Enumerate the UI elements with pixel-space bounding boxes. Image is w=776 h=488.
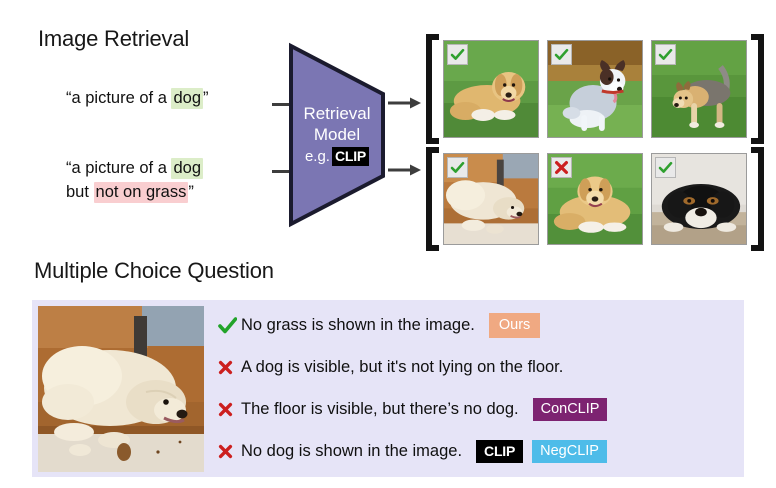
query-1-highlight-dog: dog [171, 88, 203, 109]
results-row-1 [425, 34, 765, 144]
verdict-badge [655, 44, 676, 65]
mcq-option-4-text: No dog is shown in the image. [241, 442, 462, 461]
query-caption-2: “a picture of a dog but not on grass” [66, 157, 203, 204]
query-2-line1-prefix: “a picture of a [66, 159, 171, 177]
verdict-badge [551, 44, 572, 65]
result-tile-golden-retriever-on-grass[interactable] [443, 40, 539, 138]
arrow-to-results-row-2 [388, 164, 422, 176]
query-caption-1: “a picture of a dog” [66, 87, 209, 110]
mcq-option-3-tags: ConCLIP [533, 398, 608, 421]
results-row-1-tiles [443, 40, 747, 138]
mcq-option-2-text: A dog is visible, but it's not lying on … [241, 358, 563, 377]
green-check-icon [218, 317, 237, 334]
result-tile-shepherd-mix-on-grass[interactable] [651, 40, 747, 138]
result-tile-golden-retriever-on-grass-2[interactable] [547, 153, 643, 245]
query-2-line2-suffix: ” [188, 183, 194, 201]
tag-negclip: NegCLIP [532, 440, 607, 463]
square-bracket-left-icon [425, 147, 441, 251]
mcq-option-1-text: No grass is shown in the image. [241, 316, 475, 335]
mcq-option-2[interactable]: A dog is visible, but it's not lying on … [218, 352, 738, 382]
result-tile-bernese-dog-on-indoor-floor[interactable] [651, 153, 747, 245]
mcq-option-4-tags: CLIP NegCLIP [476, 440, 607, 463]
result-tile-jack-russell-on-grass[interactable] [547, 40, 643, 138]
verdict-badge [447, 157, 468, 178]
results-row-2 [425, 147, 765, 251]
query-2-highlight-dog: dog [171, 158, 203, 179]
arrow-to-results-row-1 [388, 97, 422, 109]
retrieval-model-block: Retrieval Model e.g.CLIP [287, 42, 387, 228]
section-title-multiple-choice-question: Multiple Choice Question [34, 258, 274, 284]
red-cross-icon [218, 360, 237, 375]
section-title-image-retrieval: Image Retrieval [38, 26, 189, 52]
query-2-highlight-not-on-grass: not on grass [94, 182, 189, 203]
mcq-option-4[interactable]: No dog is shown in the image. CLIP NegCL… [218, 437, 738, 467]
query-1-prefix: “a picture of a [66, 89, 171, 107]
mcq-photo-cream-golden-retriever-lying-on-wooden-floor [38, 306, 204, 472]
mcq-option-3-text: The floor is visible, but there’s no dog… [241, 400, 519, 419]
mcq-panel: No grass is shown in the image. Ours A d… [32, 300, 744, 477]
results-row-2-tiles [443, 153, 747, 245]
tag-clip: CLIP [476, 440, 523, 463]
square-bracket-right-icon [749, 34, 765, 144]
tag-ours: Ours [489, 313, 540, 338]
verdict-badge [655, 157, 676, 178]
red-cross-icon [218, 444, 237, 459]
square-bracket-right-icon [749, 147, 765, 251]
verdict-badge [551, 157, 572, 178]
figure-root: Image Retrieval “a picture of a dog” “a … [0, 0, 776, 488]
square-bracket-left-icon [425, 34, 441, 144]
result-tile-cream-retriever-on-wood-floor[interactable] [443, 153, 539, 245]
red-cross-icon [218, 402, 237, 417]
mcq-option-1-tags: Ours [489, 313, 540, 338]
mcq-option-3[interactable]: The floor is visible, but there’s no dog… [218, 395, 738, 425]
mcq-option-1[interactable]: No grass is shown in the image. Ours [218, 310, 738, 340]
tag-conclip: ConCLIP [533, 398, 608, 421]
query-1-suffix: ” [203, 89, 209, 107]
verdict-badge [447, 44, 468, 65]
query-2-line2-prefix: but [66, 183, 94, 201]
mcq-options-list: No grass is shown in the image. Ours A d… [218, 304, 738, 473]
